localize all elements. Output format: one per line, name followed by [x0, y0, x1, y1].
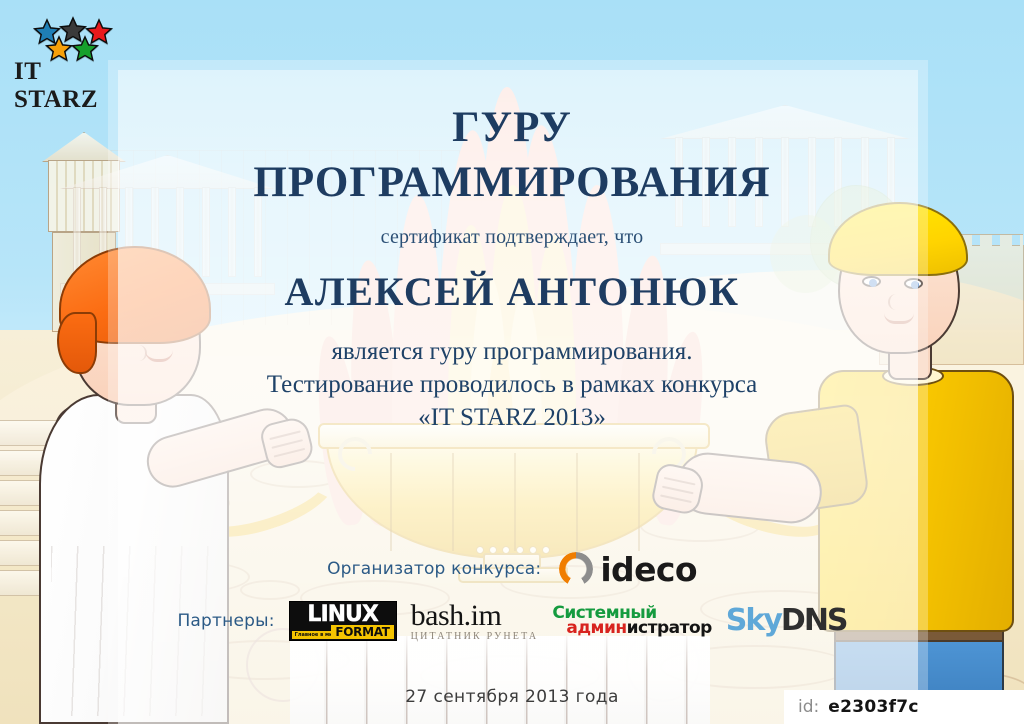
bash-im-logo[interactable]: bash.im ЦИТАТНИК РУНЕТА: [411, 601, 539, 642]
certificate-confirm-text: сертификат подтверждает, что: [0, 226, 1024, 249]
stars-group: [14, 16, 106, 56]
partners-row: Партнеры: LINUX Главное в мире Linux FOR…: [0, 598, 1024, 644]
body-line-2: Тестирование проводилось в рамках конкур…: [60, 368, 964, 401]
certificate-id-label: id:: [798, 697, 819, 717]
linux-format-logo[interactable]: LINUX Главное в мире Linux FORMAT: [289, 601, 397, 641]
bash-im-wordmark: bash.im: [411, 601, 539, 631]
certificate-title-line1: ГУРУ: [0, 106, 1024, 149]
certificate-id-badge: id: e2303f7c: [784, 690, 1024, 724]
ideco-logo[interactable]: ideco: [559, 552, 697, 586]
linux-format-line1: LINUX: [294, 603, 392, 627]
sysadmin-line2-black: истратор: [627, 618, 712, 638]
skydns-part2: DNS: [781, 603, 847, 638]
bash-im-tagline: ЦИТАТНИК РУНЕТА: [411, 632, 539, 642]
body-line-1: является гуру программирования.: [60, 335, 964, 368]
organizer-label: Организатор конкурса:: [327, 559, 541, 579]
sysadmin-line2-red: админ: [566, 618, 626, 638]
certificate-title-line2: ПРОГРАММИРОВАНИЯ: [0, 161, 1024, 204]
ideco-wordmark: ideco: [600, 553, 697, 586]
partners-label: Партнеры:: [177, 611, 274, 631]
certificate-canvas: ГУРУ ПРОГРАММИРОВАНИЯ сертификат подтвер…: [0, 0, 1024, 724]
body-line-3: «IT STARZ 2013»: [60, 401, 964, 434]
brand-logo[interactable]: IT STARZ: [14, 16, 118, 88]
recipient-name: АЛЕКСЕЙ АНТОНЮК: [0, 268, 1024, 315]
certificate-id-value: e2303f7c: [828, 697, 919, 717]
skydns-logo[interactable]: SkyDNS: [726, 606, 847, 636]
skydns-part1: Sky: [726, 603, 781, 638]
sysadmin-line2: администратор: [552, 621, 711, 636]
linux-format-line2: FORMAT: [331, 625, 393, 639]
brand-wordmark: IT STARZ: [14, 58, 118, 114]
certificate-body-text: является гуру программирования. Тестиров…: [60, 335, 964, 434]
sysadmin-logo[interactable]: Системный администратор: [552, 606, 711, 636]
ideco-swoosh-icon: [559, 552, 593, 586]
organizer-row: Организатор конкурса: ideco: [0, 547, 1024, 591]
